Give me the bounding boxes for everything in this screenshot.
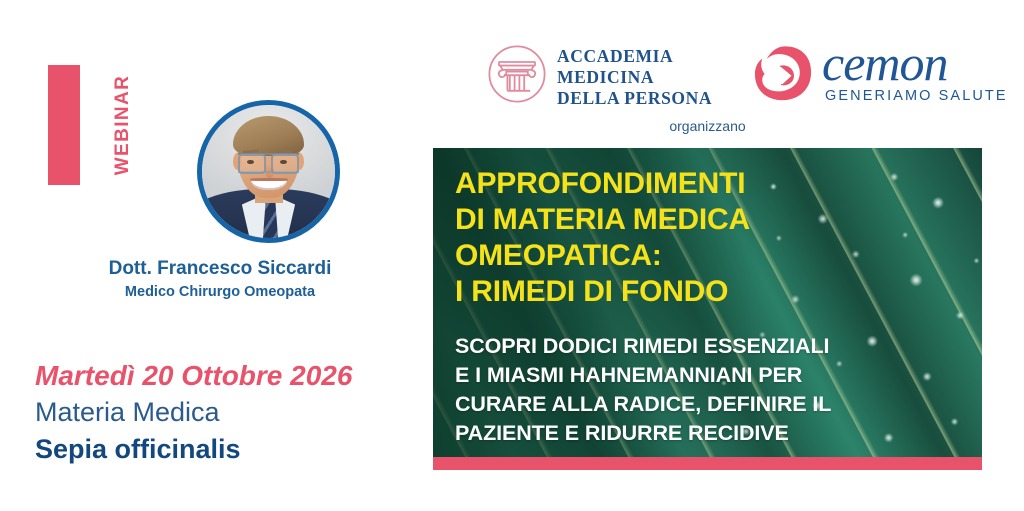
promo-subheadline-line-4: PAZIENTE E RIDURRE RECIDIVE	[455, 419, 925, 448]
promo-subheadline: SCOPRI DODICI RIMEDI ESSENZIALI E I MIAS…	[455, 332, 925, 448]
speaker-name: Dott. Francesco Siccardi	[20, 258, 420, 280]
accademia-medicina-della-persona-logo: ACCADEMIA MEDICINA DELLA PERSONA	[487, 40, 717, 110]
promo-headline-line-1: APPROFONDIMENTI	[455, 166, 885, 202]
promo-subheadline-line-2: E I MIASMI HAHNEMANNIANI PER	[455, 361, 925, 390]
speaker-role: Medico Chirurgo Omeopata	[20, 284, 420, 300]
cemon-mark-icon	[752, 44, 814, 102]
accademia-line-1: ACCADEMIA	[557, 46, 712, 67]
promo-headline-line-4: I RIMEDI DI FONDO	[455, 274, 885, 310]
cemon-wordmark: cemon	[822, 36, 948, 90]
accademia-line-3: DELLA PERSONA	[557, 88, 712, 109]
webinar-badge-label: WEBINAR	[110, 65, 136, 185]
promo-panel: APPROFONDIMENTI DI MATERIA MEDICA OMEOPA…	[433, 148, 982, 470]
promo-accent-bar	[433, 457, 982, 470]
cemon-logo: cemon GENERIAMO SALUTE	[752, 38, 967, 110]
event-remedy: Sepia officinalis	[35, 434, 241, 465]
webinar-accent-bar	[48, 65, 80, 185]
event-date: Martedì 20 Ottobre 2026	[35, 360, 352, 392]
accademia-wordmark: ACCADEMIA MEDICINA DELLA PERSONA	[557, 46, 712, 109]
accademia-line-2: MEDICINA	[557, 67, 712, 88]
speaker-avatar	[197, 100, 340, 243]
promo-headline-line-2: DI MATERIA MEDICA	[455, 202, 885, 238]
ionic-column-icon	[487, 44, 547, 104]
promo-subheadline-line-3: CURARE ALLA RADICE, DEFINIRE IL	[455, 390, 925, 419]
promo-subheadline-line-1: SCOPRI DODICI RIMEDI ESSENZIALI	[455, 332, 925, 361]
promo-headline: APPROFONDIMENTI DI MATERIA MEDICA OMEOPA…	[455, 166, 885, 310]
cemon-tagline: GENERIAMO SALUTE	[825, 88, 1008, 104]
avatar-nose	[265, 165, 274, 178]
event-subject: Materia Medica	[35, 397, 220, 428]
organizers-note: organizzano	[433, 118, 982, 134]
promo-headline-line-3: OMEOPATICA:	[455, 238, 885, 274]
